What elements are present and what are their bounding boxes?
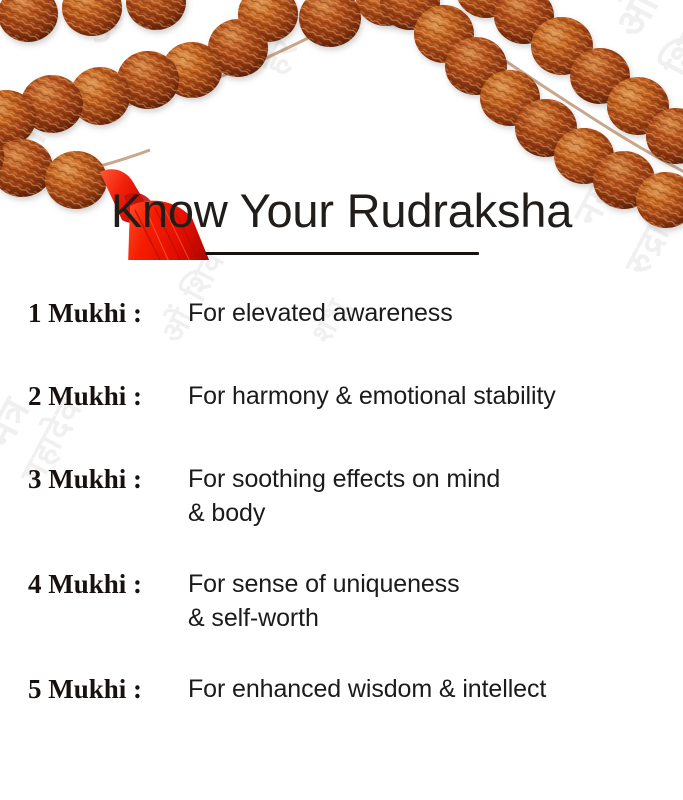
infographic-content: Know Your Rudraksha 1 Mukhi : For elevat…: [0, 0, 683, 800]
mukhi-description: For enhanced wisdom & intellect: [188, 672, 683, 706]
mukhi-label: 5 Mukhi :: [28, 672, 188, 706]
list-item: 2 Mukhi : For harmony & emotional stabil…: [0, 379, 683, 413]
mukhi-description-line: & body: [188, 496, 683, 530]
mukhi-description: For soothing effects on mind & body: [188, 462, 683, 530]
title-block: Know Your Rudraksha: [0, 186, 683, 255]
title-divider-rule: [205, 252, 479, 255]
page-title: Know Your Rudraksha: [0, 186, 683, 235]
mukhi-benefits-list: 1 Mukhi : For elevated awareness 2 Mukhi…: [0, 296, 683, 706]
mukhi-label: 3 Mukhi :: [28, 462, 188, 496]
mukhi-description-line: For soothing effects on mind: [188, 465, 500, 493]
row-spacer: [0, 413, 683, 462]
mukhi-description-line: For sense of uniqueness: [188, 570, 459, 598]
list-item: 4 Mukhi : For sense of uniqueness & self…: [0, 567, 683, 635]
mukhi-description: For harmony & emotional stability: [188, 379, 683, 413]
list-item: 5 Mukhi : For enhanced wisdom & intellec…: [0, 672, 683, 706]
row-spacer: [0, 635, 683, 672]
mukhi-label: 4 Mukhi :: [28, 567, 188, 601]
mukhi-label: 2 Mukhi :: [28, 379, 188, 413]
mukhi-description-line: For harmony & emotional stability: [188, 382, 556, 410]
mukhi-label: 1 Mukhi :: [28, 296, 188, 330]
mukhi-description-line: For enhanced wisdom & intellect: [188, 675, 546, 703]
rudraksha-infographic-page: शिव रुद्र ओं नमः मंत्र महादेव ओं शिवाय न…: [0, 0, 683, 800]
mukhi-description: For elevated awareness: [188, 296, 683, 330]
mukhi-description: For sense of uniqueness & self-worth: [188, 567, 683, 635]
row-spacer: [0, 330, 683, 379]
mukhi-description-line: For elevated awareness: [188, 299, 453, 327]
list-item: 3 Mukhi : For soothing effects on mind &…: [0, 462, 683, 530]
row-spacer: [0, 530, 683, 567]
list-item: 1 Mukhi : For elevated awareness: [0, 296, 683, 330]
mukhi-description-line: & self-worth: [188, 601, 683, 635]
